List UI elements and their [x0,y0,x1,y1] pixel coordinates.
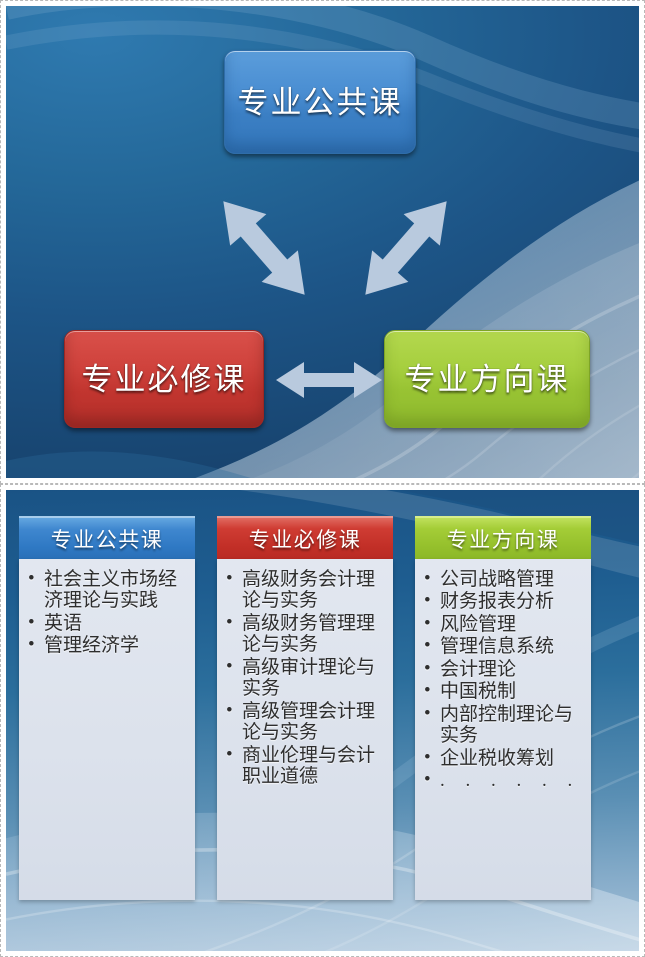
column-public-course: 专业公共课 社会主义市场经济理论与实践 英语 管理经济学 [19,516,195,900]
list-item: 财务报表分析 [438,591,583,612]
list-item: 企业税收筹划 [438,748,583,769]
list-item: 公司战略管理 [438,569,583,590]
list-item: 会计理论 [438,659,583,680]
course-list-panel: 专业公共课 社会主义市场经济理论与实践 英语 管理经济学 专业必修课 [0,484,645,957]
node-direction-course-label: 专业方向课 [405,364,570,395]
column-direction-course-body: 公司战略管理 财务报表分析 风险管理 管理信息系统 会计理论 中国税制 内部控制… [415,559,591,900]
column-required-course-body: 高级财务会计理论与实务 高级财务管理理论与实务 高级审计理论与实务 高级管理会计… [217,559,393,900]
list-item: 英语 [42,613,187,634]
node-required-course-label: 专业必修课 [82,364,247,395]
column-direction-course: 专业方向课 公司战略管理 财务报表分析 风险管理 管理信息系统 会计理论 中国税… [415,516,591,900]
node-public-course-label: 专业公共课 [238,87,403,118]
course-columns: 专业公共课 社会主义市场经济理论与实践 英语 管理经济学 专业必修课 [6,490,639,951]
column-public-course-body: 社会主义市场经济理论与实践 英语 管理经济学 [19,559,195,900]
column-direction-course-header[interactable]: 专业方向课 [415,516,591,559]
arrow-right-diagonal [344,184,468,312]
list-item-ellipsis: . . . . . . [438,770,583,791]
node-required-course[interactable]: 专业必修课 [64,330,264,428]
column-required-course: 专业必修课 高级财务会计理论与实务 高级财务管理理论与实务 高级审计理论与实务 … [217,516,393,900]
list-item: 内部控制理论与实务 [438,704,583,747]
course-list-canvas: 专业公共课 社会主义市场经济理论与实践 英语 管理经济学 专业必修课 [6,490,639,951]
list-item: 中国税制 [438,681,583,702]
list-item: 风险管理 [438,614,583,635]
course-list-required: 高级财务会计理论与实务 高级财务管理理论与实务 高级审计理论与实务 高级管理会计… [221,569,385,788]
node-direction-course[interactable]: 专业方向课 [384,330,590,428]
column-required-course-header[interactable]: 专业必修课 [217,516,393,559]
list-item: 高级财务会计理论与实务 [240,569,385,612]
diagram-panel: 专业公共课 专业必修课 专业方向课 [0,0,645,484]
column-direction-course-header-label: 专业方向课 [447,524,560,554]
arrow-left-diagonal [202,184,326,312]
arrow-horizontal [274,358,384,402]
course-list-direction: 公司战略管理 财务报表分析 风险管理 管理信息系统 会计理论 中国税制 内部控制… [419,569,583,792]
list-item: 高级财务管理理论与实务 [240,613,385,656]
list-item: 高级审计理论与实务 [240,657,385,700]
diagram-canvas: 专业公共课 专业必修课 专业方向课 [6,6,639,478]
list-item: 高级管理会计理论与实务 [240,701,385,744]
list-item: 管理信息系统 [438,636,583,657]
list-item: 管理经济学 [42,635,187,656]
column-required-course-header-label: 专业必修课 [249,524,362,554]
column-public-course-header-label: 专业公共课 [51,524,164,554]
node-public-course[interactable]: 专业公共课 [224,50,416,154]
list-item: 商业伦理与会计职业道德 [240,745,385,788]
column-public-course-header[interactable]: 专业公共课 [19,516,195,559]
list-item: 社会主义市场经济理论与实践 [42,569,187,612]
course-list-public: 社会主义市场经济理论与实践 英语 管理经济学 [23,569,187,657]
